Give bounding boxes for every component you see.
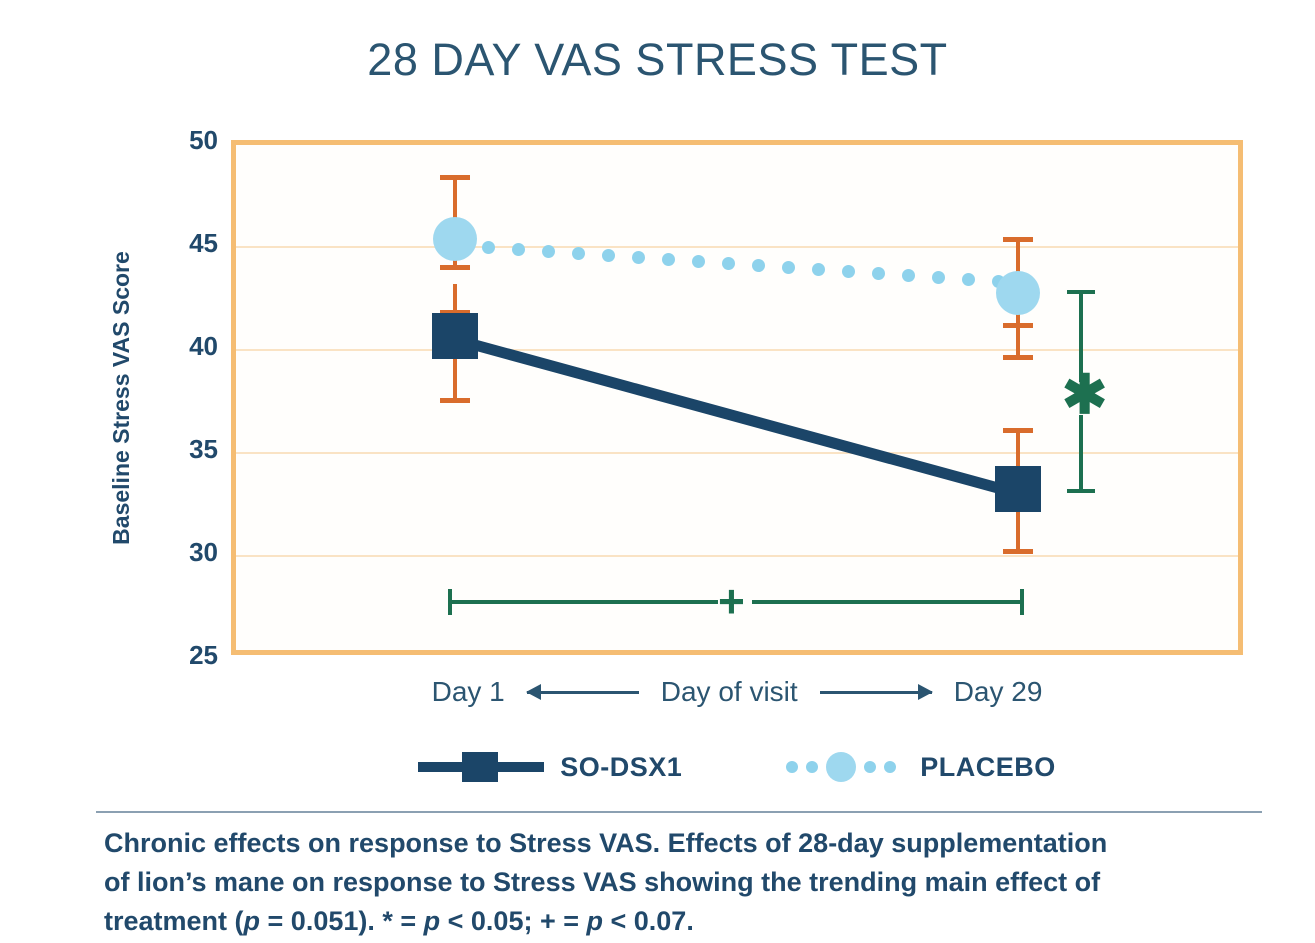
y-tick-50: 50 [148, 125, 218, 156]
x-axis-label-right: Day 29 [954, 676, 1043, 708]
data-point-treatment-day1[interactable] [432, 313, 478, 359]
data-point-placebo-day1[interactable] [433, 217, 477, 261]
legend-label-placebo: PLACEBO [920, 752, 1056, 783]
gridline-40 [236, 349, 1238, 351]
x-axis-label-left: Day 1 [432, 676, 505, 708]
caption-p-italic-3: p [587, 906, 604, 936]
significance-asterisk: ✱ [1062, 368, 1107, 422]
legend-swatch-square-icon [418, 750, 544, 784]
caption-line3-c: < 0.05; + = [440, 906, 586, 936]
error-cap-placebo-day1-top [440, 175, 470, 180]
x-axis-label-center: Day of visit [661, 676, 798, 708]
error-cap-treatment-day29-top [1003, 428, 1033, 433]
y-axis-label: Baseline Stress VAS Score [108, 140, 134, 656]
caption-p-italic-1: p [244, 906, 261, 936]
legend-swatch-dotted-icon [778, 750, 904, 784]
y-tick-40: 40 [148, 331, 218, 362]
arrow-right-icon [820, 682, 932, 702]
caption-line-1: Chronic effects on response to Stress VA… [104, 824, 1264, 863]
error-cap-placebo-day29-inner [1003, 323, 1033, 328]
error-cap-placebo-day29-top [1003, 237, 1033, 242]
data-point-placebo-day29[interactable] [996, 271, 1040, 315]
legend-item-placebo[interactable]: PLACEBO [778, 750, 1056, 784]
y-tick-30: 30 [148, 537, 218, 568]
legend-label-so-dsx1: SO-DSX1 [560, 752, 682, 783]
figure-caption: Chronic effects on response to Stress VA… [104, 824, 1264, 941]
significance-plus: + [718, 578, 745, 624]
data-point-treatment-day29[interactable] [995, 466, 1041, 512]
x-axis: Day 1 Day of visit Day 29 [231, 672, 1243, 712]
caption-line-3: treatment (p = 0.051). * = p < 0.05; + =… [104, 902, 1264, 941]
caption-line-2: of lion’s mane on response to Stress VAS… [104, 863, 1264, 902]
y-tick-25: 25 [148, 640, 218, 671]
caption-line3-a: treatment ( [104, 906, 244, 936]
caption-divider [96, 811, 1262, 813]
caption-line3-b: = 0.051). * = [260, 906, 424, 936]
legend: SO-DSX1 PLACEBO [231, 740, 1243, 794]
legend-item-so-dsx1[interactable]: SO-DSX1 [418, 750, 682, 784]
error-cap-treatment-day1-bottom [440, 398, 470, 403]
chart-figure: 28 DAY VAS STRESS TEST Baseline Stress V… [0, 0, 1315, 943]
error-cap-placebo-day29-bottom [1003, 355, 1033, 360]
y-tick-45: 45 [148, 228, 218, 259]
arrow-left-icon [527, 682, 639, 702]
caption-p-italic-2: p [424, 906, 441, 936]
error-cap-treatment-day29-bottom [1003, 549, 1033, 554]
page-title: 28 DAY VAS STRESS TEST [0, 34, 1315, 86]
gridline-35 [236, 452, 1238, 454]
error-cap-placebo-day1-bottom [440, 265, 470, 270]
gridline-30 [236, 555, 1238, 557]
caption-line3-d: < 0.07. [603, 906, 694, 936]
y-tick-35: 35 [148, 434, 218, 465]
gridline-45 [236, 246, 1238, 248]
